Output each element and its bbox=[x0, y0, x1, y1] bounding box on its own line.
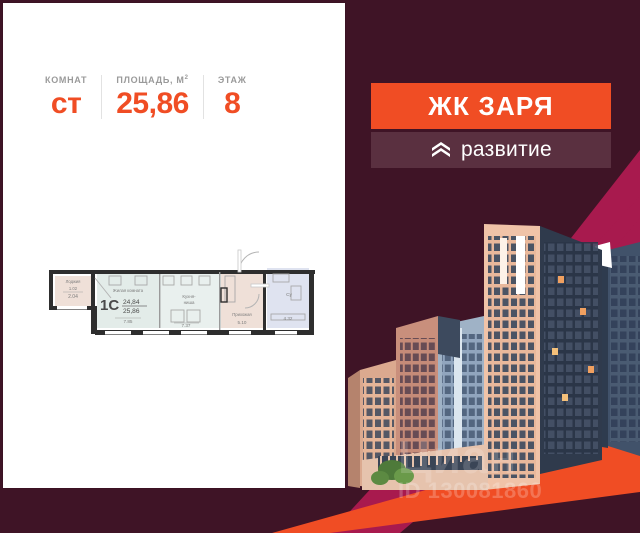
tree-canopy bbox=[394, 468, 414, 484]
stat-floor-label: ЭТАЖ bbox=[218, 75, 247, 85]
plan-type-badge: 1С bbox=[100, 297, 119, 314]
floor-plan-svg[interactable]: Лоджия 1.02 2.04 Жилая комната 7.85 Кухн… bbox=[43, 246, 315, 361]
plan-area-total: 25,86 bbox=[123, 308, 140, 315]
lit-window bbox=[588, 366, 594, 373]
listing-card: КОМНАТ ст ПЛОЩАДЬ, М2 25,86 ЭТАЖ 8 bbox=[3, 3, 345, 488]
facade-windows-far-right bbox=[610, 256, 640, 442]
stat-area-label-text: ПЛОЩАДЬ, М bbox=[116, 75, 184, 85]
stat-area-unit-sup: 2 bbox=[185, 75, 189, 81]
chevron-up-stack-icon bbox=[430, 139, 452, 161]
stat-area: ПЛОЩАДЬ, М2 25,86 bbox=[116, 75, 189, 119]
stat-floor: ЭТАЖ 8 bbox=[218, 75, 247, 119]
lit-window bbox=[558, 276, 564, 283]
plan-window-loggia bbox=[57, 306, 87, 309]
tree-canopy bbox=[371, 471, 389, 485]
facade-white-stripe bbox=[516, 236, 525, 294]
room-label-bathroom: Су bbox=[286, 292, 292, 298]
stat-area-label: ПЛОЩАДЬ, М2 bbox=[116, 75, 188, 85]
room-label-kitchen-2: ниша bbox=[184, 300, 195, 305]
room-area-loggia-2: 2.04 bbox=[68, 294, 78, 300]
complex-name-text: ЖК ЗАРЯ bbox=[428, 91, 553, 122]
complex-name-banner[interactable]: ЖК ЗАРЯ bbox=[371, 83, 611, 129]
room-label-living: Жилая комната bbox=[113, 288, 144, 293]
lit-window bbox=[552, 348, 558, 355]
lit-window bbox=[580, 308, 586, 315]
stat-rooms: КОМНАТ ст bbox=[45, 75, 87, 119]
stat-divider bbox=[203, 75, 204, 119]
developer-logo-block[interactable]: ЖК ЗАРЯ развитие bbox=[371, 83, 611, 168]
room-label-hall: Прихожая bbox=[232, 312, 251, 317]
room-area-bathroom: 4.32 bbox=[284, 316, 293, 321]
developer-name-text: развитие bbox=[461, 138, 552, 162]
facade-light-stripe bbox=[500, 238, 507, 284]
developer-bar[interactable]: развитие bbox=[371, 132, 611, 168]
room-area-loggia-1: 1.02 bbox=[69, 286, 78, 291]
building-render bbox=[340, 198, 640, 533]
room-area-kitchen: 7.37 bbox=[182, 323, 191, 328]
room-area-hall: 5.10 bbox=[238, 320, 247, 325]
stat-rooms-label: КОМНАТ bbox=[45, 75, 87, 85]
building-dark-slab bbox=[438, 316, 460, 358]
apartment-stats: КОМНАТ ст ПЛОЩАДЬ, М2 25,86 ЭТАЖ 8 bbox=[3, 75, 345, 119]
facade-windows-peach bbox=[488, 236, 536, 478]
floor-plan[interactable]: Лоджия 1.02 2.04 Жилая комната 7.85 Кухн… bbox=[43, 246, 315, 361]
stat-area-value: 25,86 bbox=[116, 89, 189, 119]
stat-floor-value: 8 bbox=[224, 89, 240, 119]
stat-rooms-value: ст bbox=[51, 89, 81, 119]
plan-area-living: 24,84 bbox=[123, 299, 140, 306]
building-illustration bbox=[340, 198, 640, 533]
room-label-kitchen: Кухня- bbox=[182, 294, 196, 299]
stat-divider bbox=[101, 75, 102, 119]
building-far-left-side bbox=[348, 370, 360, 488]
room-area-living: 7.85 bbox=[124, 319, 133, 324]
room-label-loggia: Лоджия bbox=[66, 279, 81, 284]
lit-window bbox=[562, 394, 568, 401]
